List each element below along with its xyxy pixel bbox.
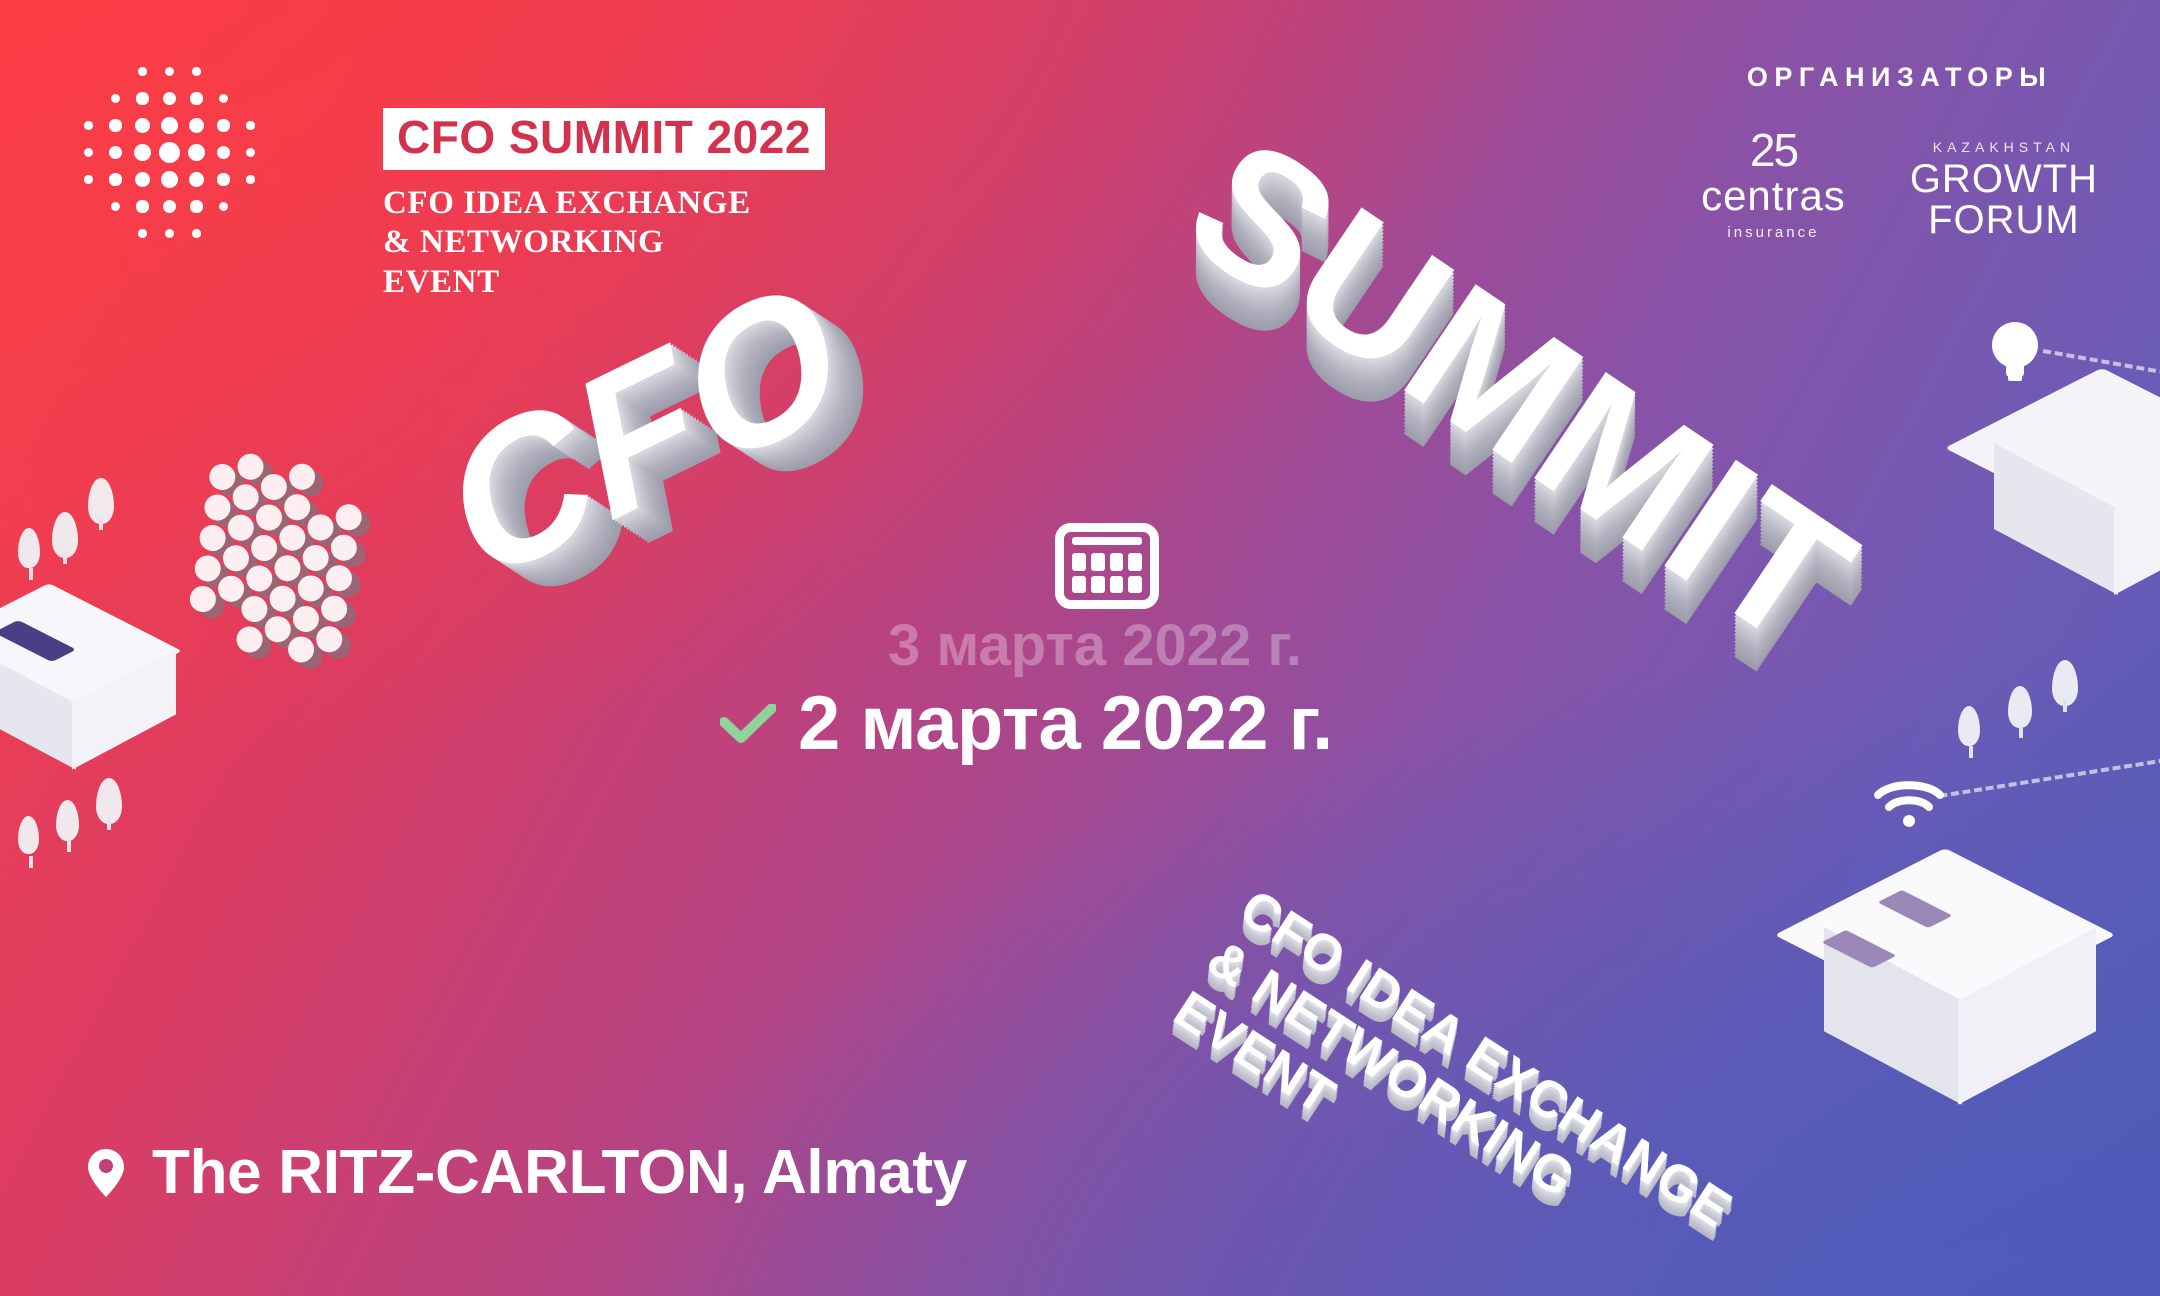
iso-building-bottom-right [1810, 844, 2140, 1094]
centras-subtitle: insurance [1701, 224, 1846, 241]
kgf-line-2: FORUM [1910, 200, 2098, 241]
hero-tagline-line-2: & NETWORKING [1196, 929, 1709, 1291]
location-pin-icon [86, 1147, 126, 1199]
organizers-block: ОРГАНИЗАТОРЫ 25 centras insurance KAZAKH… [1701, 62, 2098, 241]
venue-block: The RITZ-CARLTON, Almaty [86, 1137, 967, 1208]
kgf-kicker: KAZAKHSTAN [1910, 140, 2098, 154]
wifi-icon [1872, 778, 1946, 830]
dashed-connector-bottom [1939, 758, 2160, 798]
dot-matrix-logo [75, 58, 265, 243]
calendar-icon [1055, 523, 1159, 609]
organizers-logo-row: 25 centras insurance KAZAKHSTAN GROWTH F… [1701, 127, 2098, 241]
lightbulb-icon [1992, 322, 2038, 368]
kazakhstan-growth-forum-logo: KAZAKHSTAN GROWTH FORUM [1910, 140, 2098, 241]
calendar-grid [1072, 553, 1142, 593]
iso-building-top-right [1988, 364, 2160, 584]
header-block: CFO SUMMIT 2022 CFO IDEA EXCHANGE & NETW… [383, 108, 1023, 302]
event-poster: CFO SUMMIT 2022 CFO IDEA EXCHANGE & NETW… [0, 0, 2160, 1296]
date-option-selected[interactable]: 2 марта 2022 г. [720, 680, 1333, 767]
iso-building-left [0, 580, 192, 740]
date-option-alternate[interactable]: 3 марта 2022 г. [888, 612, 1302, 679]
kgf-line-1: GROWTH [1910, 159, 2098, 200]
page-title: CFO SUMMIT 2022 [383, 108, 825, 170]
centras-name: centras [1701, 175, 1846, 217]
centras-insurance-logo: 25 centras insurance [1701, 127, 1846, 241]
centras-25-mark: 25 [1701, 127, 1846, 173]
calendar-header-bar [1072, 537, 1142, 545]
header-subtitle-line-2: & NETWORKING [383, 223, 1023, 263]
venue-name: The RITZ-CARLTON, Almaty [152, 1137, 967, 1208]
hero-tagline: CFO IDEA EXCHANGE & NETWORKING EVENT [1163, 878, 1742, 1296]
header-subtitle-line-1: CFO IDEA EXCHANGE [383, 184, 1023, 224]
organizers-heading: ОРГАНИЗАТОРЫ [1701, 62, 2098, 93]
check-icon [720, 704, 776, 744]
selected-date-label: 2 марта 2022 г. [798, 680, 1333, 767]
